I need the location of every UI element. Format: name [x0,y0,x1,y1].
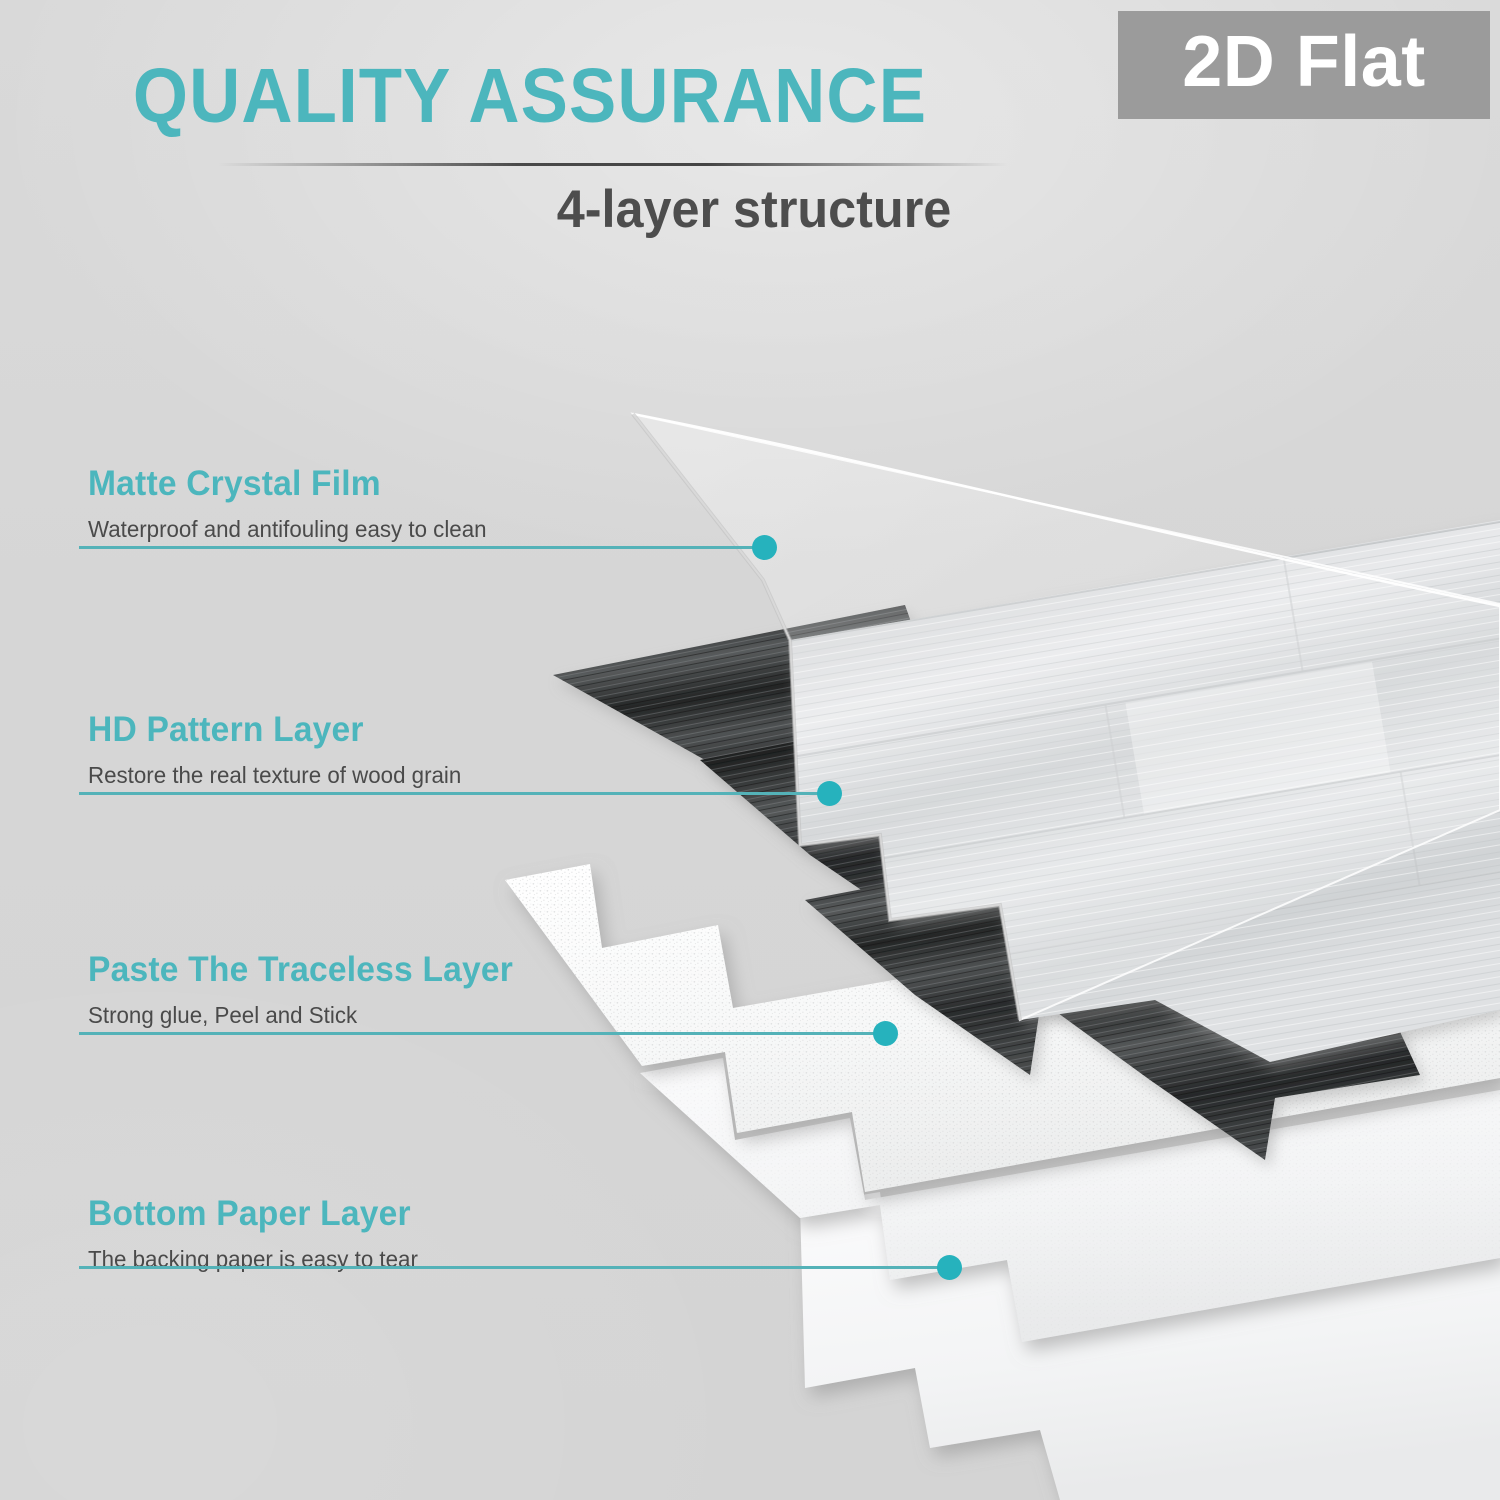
leader-dot-1 [752,535,777,560]
callout-paste-traceless-layer: Paste The Traceless Layer Strong glue, P… [88,952,531,1027]
leader-line-2 [79,792,826,795]
callout-title: Paste The Traceless Layer [88,952,513,987]
status-badge: 2D Flat [1118,11,1490,119]
callout-hd-pattern-layer: HD Pattern Layer Restore the real textur… [88,712,473,787]
page-title: QUALITY ASSURANCE [42,58,1017,135]
callout-subtitle: Strong glue, Peel and Stick [88,1004,517,1027]
leader-dot-3 [873,1021,898,1046]
callout-matte-crystal-film: Matte Crystal Film Waterproof and antifo… [88,466,499,541]
product-infographic: QUALITY ASSURANCE 4-layer structure 2D F… [0,0,1500,1500]
page-subtitle: 4-layer structure [38,183,1471,236]
title-divider [218,163,1008,166]
leader-dot-4 [937,1255,962,1280]
leader-dot-2 [817,781,842,806]
callout-title: Matte Crystal Film [88,466,482,501]
leader-line-4 [79,1266,946,1269]
badge-label: 2D Flat [1182,26,1426,98]
callout-title: Bottom Paper Layer [88,1196,414,1231]
callout-title: HD Pattern Layer [88,712,457,747]
leader-line-3 [79,1032,882,1035]
callout-bottom-paper-layer: Bottom Paper Layer The backing paper is … [88,1196,428,1271]
leader-line-1 [79,546,761,549]
callout-subtitle: Restore the real texture of wood grain [88,764,461,787]
callout-subtitle: Waterproof and antifouling easy to clean [88,518,487,541]
header: QUALITY ASSURANCE 4-layer structure 2D F… [0,0,1500,260]
